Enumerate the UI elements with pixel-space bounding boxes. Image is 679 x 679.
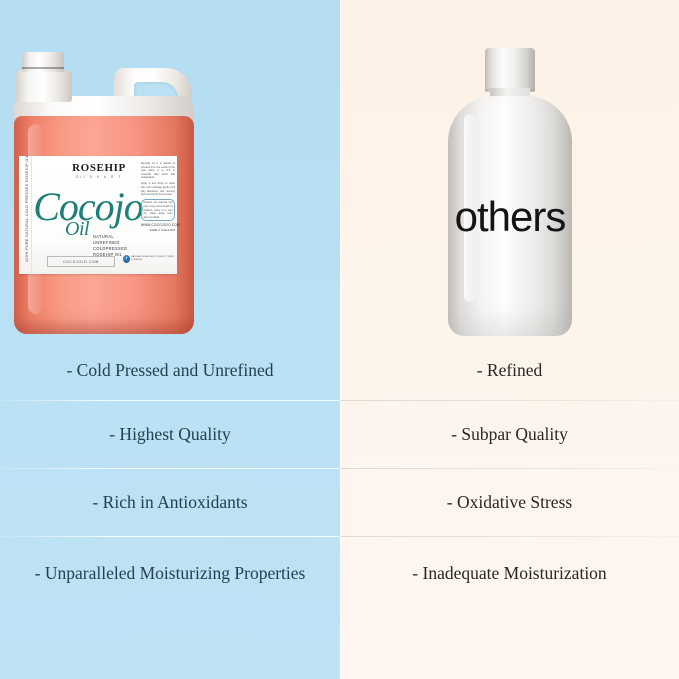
label-url: WWW.COCOJOJO.COM	[141, 224, 175, 228]
comparison-infographic: 100% PURE NATURAL COLD PRESSED ROSEHIP O…	[0, 0, 679, 679]
left-product-stage: 100% PURE NATURAL COLD PRESSED ROSEHIP O…	[0, 0, 340, 340]
left-feature-text-4: - Unparalleled Moisturizing Properties	[35, 562, 306, 585]
info-icon-glyph: i	[126, 255, 127, 263]
left-feature-row-2: - Highest Quality	[0, 401, 340, 468]
label-size: SIZE 1 GALLON	[141, 229, 175, 233]
left-feature-text-2: - Highest Quality	[109, 423, 231, 446]
product-label: 100% PURE NATURAL COLD PRESSED ROSEHIP O…	[19, 156, 177, 274]
right-feature-rows: - Refined - Subpar Quality - Oxidative S…	[340, 340, 679, 609]
left-feature-row-1: - Cold Pressed and Unrefined	[0, 340, 340, 400]
label-body-copy: Rosehip oil is a natural oil pressed fro…	[141, 162, 175, 233]
jug-neck	[16, 70, 72, 102]
others-bottle: others	[448, 48, 572, 336]
left-panel-cocojojo: 100% PURE NATURAL COLD PRESSED ROSEHIP O…	[0, 0, 340, 679]
right-feature-text-4: - Inadequate Moisturization	[412, 562, 606, 585]
right-feature-text-2: - Subpar Quality	[451, 423, 568, 446]
left-feature-text-1: - Cold Pressed and Unrefined	[66, 359, 273, 382]
jug-base-shading	[14, 318, 194, 334]
right-feature-text-3: - Oxidative Stress	[447, 491, 572, 514]
left-feature-row-3: - Rich in Antioxidants	[0, 469, 340, 536]
right-product-stage: others	[340, 0, 679, 340]
label-paragraph-2: Apply a few drops to clean skin and mass…	[141, 182, 175, 196]
left-feature-row-4: - Unparalleled Moisturizing Properties	[0, 537, 340, 609]
label-paragraph-3: Caution: for external use only. Keep out…	[141, 199, 175, 221]
right-panel-others: others - Refined - Subpar Quality - Oxid…	[340, 0, 679, 679]
right-feature-row-1: - Refined	[340, 340, 679, 400]
left-feature-text-3: - Rich in Antioxidants	[92, 491, 247, 514]
jug-cap	[22, 52, 64, 72]
label-website-box: COCOJOJO.COM	[47, 256, 115, 267]
label-certification-badge: i NATURAL INGREDIENTS CRUELTY FREE FORMU…	[123, 255, 177, 263]
right-feature-row-3: - Oxidative Stress	[340, 469, 679, 536]
info-icon: i	[123, 255, 130, 263]
bottle-cap	[485, 48, 535, 92]
bottle-label-text: others	[448, 196, 572, 238]
rosehip-gallon-jug: 100% PURE NATURAL COLD PRESSED ROSEHIP O…	[14, 52, 194, 334]
left-feature-rows: - Cold Pressed and Unrefined - Highest Q…	[0, 340, 340, 609]
label-badge-text: NATURAL INGREDIENTS CRUELTY FREE FORMULA	[131, 256, 177, 262]
right-feature-text-1: - Refined	[477, 359, 543, 382]
panel-divider	[340, 0, 341, 679]
right-feature-row-4: - Inadequate Moisturization	[340, 537, 679, 609]
right-feature-row-2: - Subpar Quality	[340, 401, 679, 468]
label-paragraph-1: Rosehip oil is a natural oil pressed fro…	[141, 162, 175, 180]
label-script-oil: Oil	[65, 218, 89, 241]
label-website-text: COCOJOJO.COM	[63, 260, 99, 264]
